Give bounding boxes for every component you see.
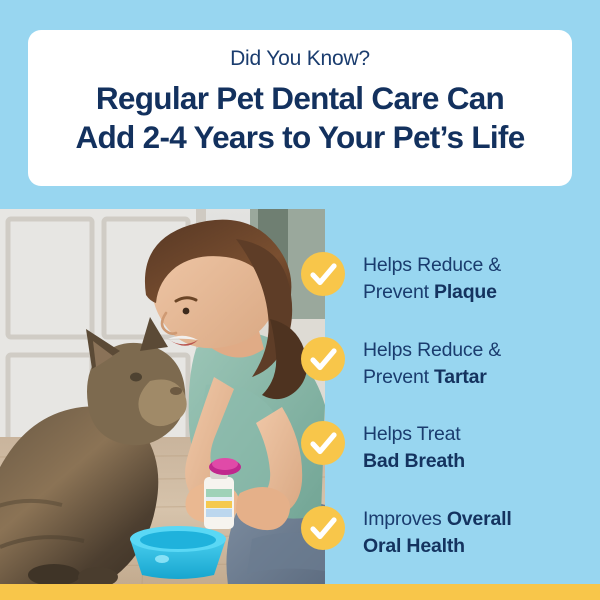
benefit-line-2-bold: Plaque bbox=[434, 281, 497, 303]
benefit-line-1: Helps Reduce & bbox=[363, 339, 501, 361]
page-title: Regular Pet Dental Care Can Add 2-4 Year… bbox=[75, 79, 524, 157]
benefit-line-1-bold: Overall bbox=[447, 508, 512, 530]
benefit-line-2-plain: Prevent bbox=[363, 366, 434, 388]
benefit-label: Improves Overall Oral Health bbox=[363, 506, 512, 560]
benefit-line-1: Helps Reduce & bbox=[363, 254, 501, 276]
benefit-label: Helps Reduce & Prevent Plaque bbox=[363, 252, 501, 306]
benefit-line-2-bold: Oral Health bbox=[363, 535, 465, 557]
benefit-label: Helps Treat Bad Breath bbox=[363, 421, 465, 475]
benefits-list: Helps Reduce & Prevent Plaque Helps Redu… bbox=[301, 209, 600, 584]
check-icon bbox=[301, 506, 345, 550]
benefit-label: Helps Reduce & Prevent Tartar bbox=[363, 337, 501, 391]
check-icon bbox=[301, 252, 345, 296]
check-icon bbox=[301, 337, 345, 381]
headline-line-2: Add 2-4 Years to Your Pet’s Life bbox=[75, 118, 524, 157]
benefit-item-bad-breath: Helps Treat Bad Breath bbox=[301, 421, 465, 475]
hero-photo bbox=[0, 209, 325, 584]
benefit-item-oral-health: Improves Overall Oral Health bbox=[301, 506, 512, 560]
benefit-line-1: Helps Treat bbox=[363, 423, 461, 445]
benefit-line-2-bold: Tartar bbox=[434, 366, 487, 388]
header-card: Did You Know? Regular Pet Dental Care Ca… bbox=[28, 30, 572, 186]
check-icon bbox=[301, 421, 345, 465]
photo-woman-and-cat-icon bbox=[0, 209, 325, 584]
benefit-item-tartar: Helps Reduce & Prevent Tartar bbox=[301, 337, 501, 391]
headline-line-1: Regular Pet Dental Care Can bbox=[75, 79, 524, 118]
benefit-line-2-plain: Prevent bbox=[363, 281, 434, 303]
benefit-line-1-plain: Improves bbox=[363, 508, 447, 530]
eyebrow-text: Did You Know? bbox=[230, 44, 370, 74]
benefit-item-plaque: Helps Reduce & Prevent Plaque bbox=[301, 252, 501, 306]
benefit-line-2-bold: Bad Breath bbox=[363, 450, 465, 472]
bottom-accent-bar bbox=[0, 584, 600, 600]
